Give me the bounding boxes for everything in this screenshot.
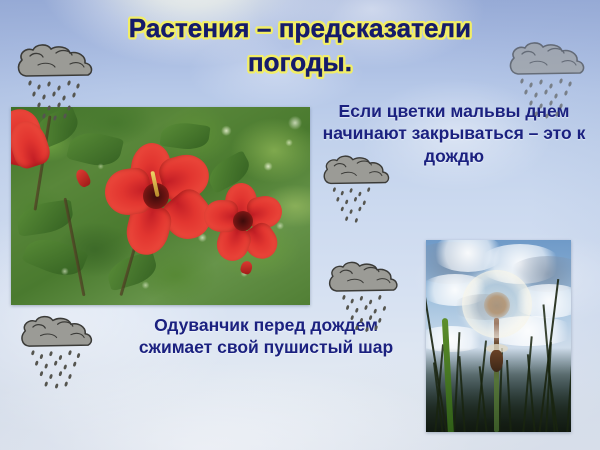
rain-cloud-icon (8, 38, 100, 124)
hibiscus-flower-secondary (207, 185, 283, 261)
dandelion-lower-bud (490, 350, 503, 372)
hibiscus-flower-main (107, 149, 217, 257)
dandelion-photo (426, 240, 571, 432)
slide-title: Растения – предсказатели погоды. (48, 12, 552, 80)
slide-canvas: Растения – предсказатели погоды. (0, 0, 600, 450)
rain-cloud-icon (315, 150, 396, 226)
rain-cloud-icon (320, 256, 405, 335)
rain-cloud-icon (500, 36, 592, 122)
dandelion-seed-head (462, 270, 532, 338)
mallow-flower-photo (11, 107, 310, 305)
flower-center (233, 211, 253, 231)
rain-cloud-icon (12, 310, 99, 392)
